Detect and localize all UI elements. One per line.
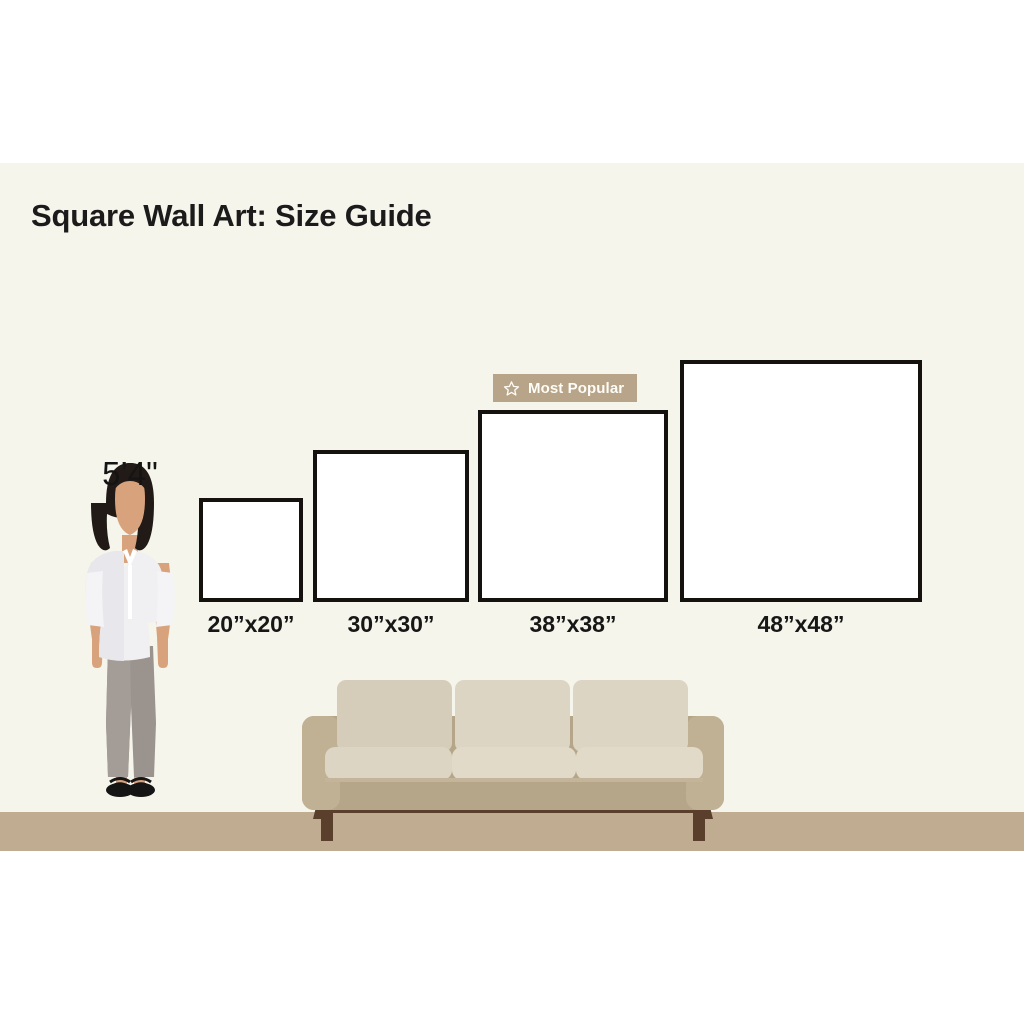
most-popular-badge[interactable]: Most Popular <box>493 374 637 402</box>
size-label-48x48: 48”x48” <box>680 611 922 638</box>
size-label-30x30: 30”x30” <box>313 611 469 638</box>
frame-30x30[interactable] <box>313 450 469 602</box>
frame-38x38[interactable] <box>478 410 668 602</box>
scale-figure: 5’4" <box>70 455 190 827</box>
frame-20x20[interactable] <box>199 498 303 602</box>
size-label-38x38: 38”x38” <box>478 611 668 638</box>
size-label-20x20: 20”x20” <box>199 611 303 638</box>
page-title: Square Wall Art: Size Guide <box>31 198 432 234</box>
frame-48x48[interactable] <box>680 360 922 602</box>
size-guide-illustration: Square Wall Art: Size Guide 5’4" <box>0 0 1024 1024</box>
most-popular-label: Most Popular <box>528 380 624 397</box>
height-label: 5’4" <box>70 455 190 493</box>
star-outline-icon <box>503 380 520 397</box>
sofa-illustration <box>280 660 746 842</box>
woman-illustration <box>70 455 190 827</box>
